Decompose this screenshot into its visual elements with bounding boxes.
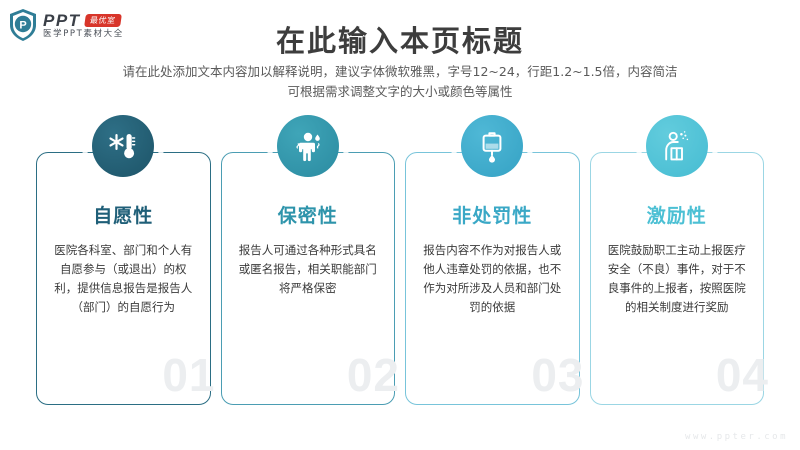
card-title: 激励性 xyxy=(591,201,764,228)
card-number: 02 xyxy=(347,352,400,398)
card-body-text: 报告内容不作为对报告人或他人违章处罚的依据，也不作为对所涉及人员和部门处罚的依据 xyxy=(422,241,563,317)
subtitle-line-1: 请在此处添加文本内容加以解释说明，建议字体微软雅黑，字号12~24，行距1.2~… xyxy=(0,62,800,82)
iv-drip-bag-icon xyxy=(461,115,523,177)
page-subtitle: 请在此处添加文本内容加以解释说明，建议字体微软雅黑，字号12~24，行距1.2~… xyxy=(0,62,800,102)
cards-row: 01 自愿性 医院各科室、部门和个人有自愿参与（或退出）的权利，提供信息报告是报… xyxy=(36,152,764,405)
person-sweating-icon xyxy=(277,115,339,177)
thermometer-snowflake-icon xyxy=(92,115,154,177)
page-title: 在此输入本页标题 xyxy=(0,18,800,60)
card-title: 保密性 xyxy=(222,201,395,228)
card-body-text: 报告人可通过各种形式具名或匿名报告，相关职能部门将严格保密 xyxy=(238,241,379,298)
card-title: 非处罚性 xyxy=(406,201,579,228)
card-voluntary[interactable]: 01 自愿性 医院各科室、部门和个人有自愿参与（或退出）的权利，提供信息报告是报… xyxy=(36,152,211,405)
card-title: 自愿性 xyxy=(37,201,210,228)
card-confidentiality[interactable]: 02 保密性 报告人可通过各种形式具名或匿名报告，相关职能部门将严格保密 xyxy=(221,152,396,405)
card-number: 01 xyxy=(162,352,215,398)
card-body-text: 医院各科室、部门和个人有自愿参与（或退出）的权利，提供信息报告是报告人（部门）的… xyxy=(53,241,194,317)
subtitle-line-2: 可根据需求调整文字的大小或颜色等属性 xyxy=(0,82,800,102)
card-number: 03 xyxy=(531,352,584,398)
card-number: 04 xyxy=(716,352,769,398)
lungs-breathing-icon xyxy=(646,115,708,177)
site-watermark: www.ppter.com xyxy=(685,432,788,442)
card-incentive[interactable]: 04 激励性 医院鼓励职工主动上报医疗安全（不良）事件，对于不良事件的上报者，按… xyxy=(590,152,765,405)
card-non-punitive[interactable]: 03 非处罚性 报告内容不作为对报告人或他人违章处罚的依据，也不作为对所涉及人员… xyxy=(405,152,580,405)
card-body-text: 医院鼓励职工主动上报医疗安全（不良）事件，对于不良事件的上报者，按照医院的相关制… xyxy=(607,241,748,317)
